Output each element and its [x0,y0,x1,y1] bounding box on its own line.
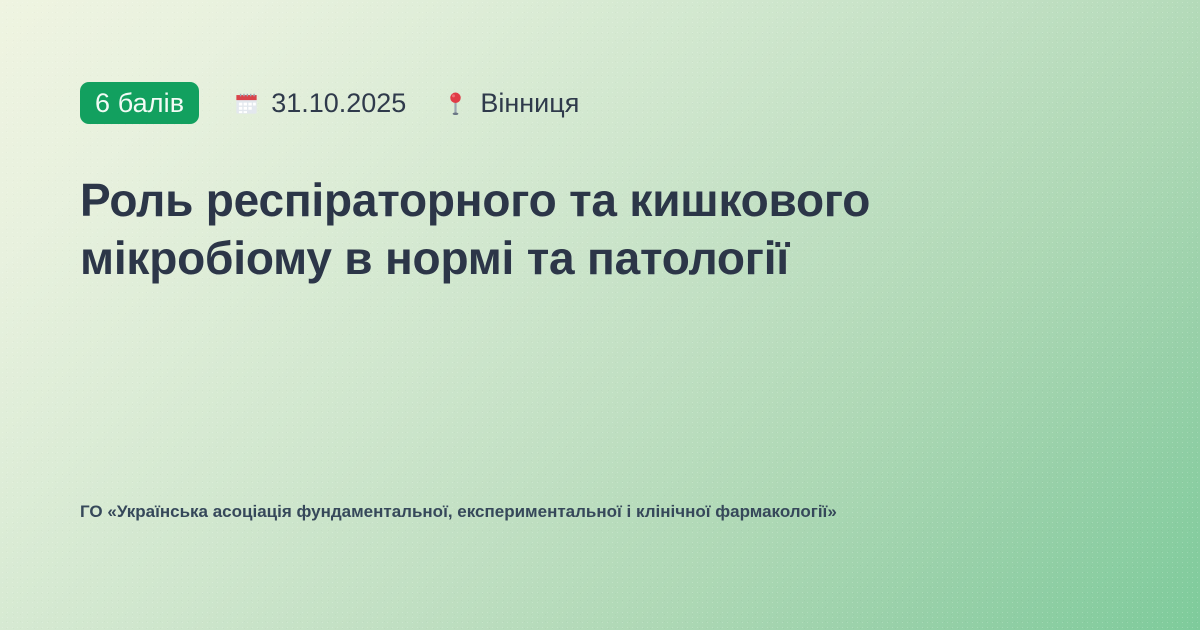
event-card: 6 балів [0,0,1200,630]
event-date: 31.10.2025 [233,90,406,117]
event-meta-row: 6 балів [80,82,1120,124]
organizer-line-2: фармакології» [715,502,837,521]
event-location-label: Вінниця [480,90,579,117]
page-title: Роль респіраторного та кишкового мікробі… [80,124,1080,287]
organizer-line-1: ГО «Українська асоціація фундаментальної… [80,502,711,521]
organizer-name: ГО «Українська асоціація фундаментальної… [80,498,980,525]
status-badge-points: 6 балів [80,82,199,124]
location-pin-icon [442,90,469,117]
calendar-icon [233,90,260,117]
page-title-line-1: Роль респіраторного та кишкового [80,171,1080,229]
event-location: Вінниця [442,90,579,117]
page-title-line-2: мікробіому в нормі та патології [80,229,1080,287]
event-date-label: 31.10.2025 [271,90,406,117]
